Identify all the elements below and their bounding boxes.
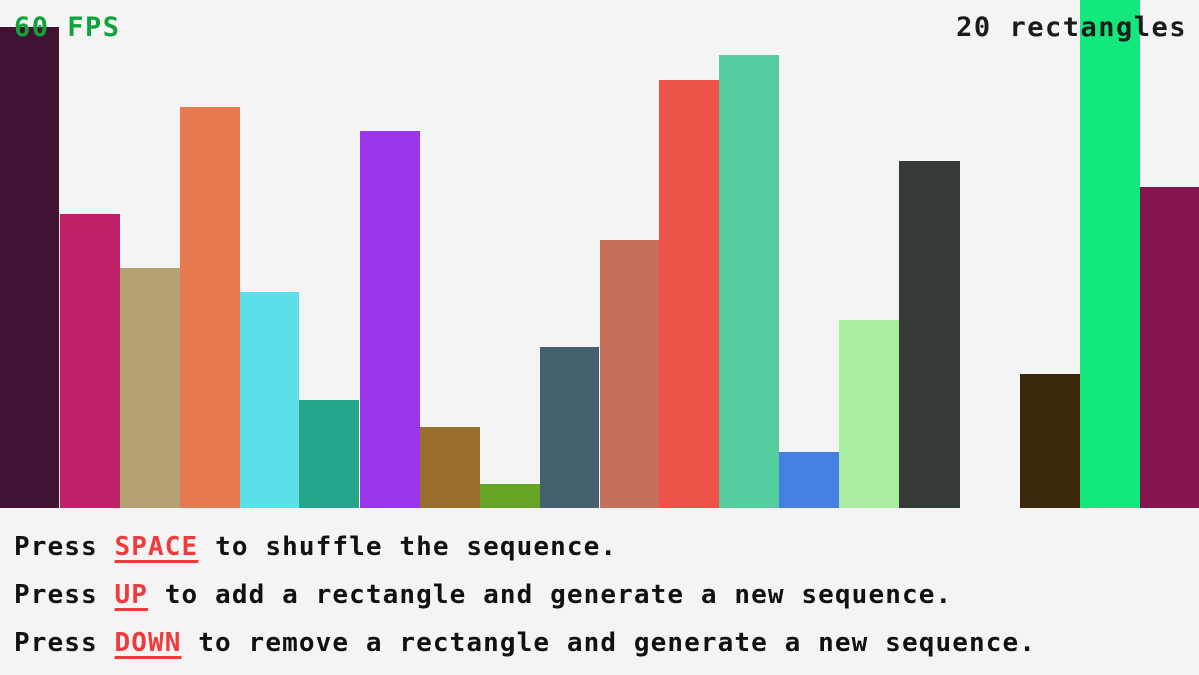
- bar-rectangle: [420, 427, 480, 508]
- instruction-line: Press SPACE to shuffle the sequence.: [14, 523, 1199, 571]
- rectangle-canvas: [0, 0, 1199, 509]
- bar-rectangle: [540, 347, 599, 508]
- bar-rectangle: [1020, 374, 1080, 508]
- instruction-suffix: to shuffle the sequence.: [198, 532, 617, 562]
- instruction-line: Press DOWN to remove a rectangle and gen…: [14, 619, 1199, 667]
- bar-rectangle: [719, 55, 779, 508]
- instruction-prefix: Press: [14, 580, 115, 610]
- bar-rectangle: [360, 131, 420, 508]
- instruction-prefix: Press: [14, 532, 115, 562]
- bar-rectangle: [1080, 0, 1140, 508]
- bar-rectangle: [600, 240, 659, 508]
- bar-rectangle: [1140, 187, 1199, 508]
- bar-rectangle: [120, 268, 180, 508]
- bar-rectangle: [899, 161, 960, 508]
- instruction-suffix: to remove a rectangle and generate a new…: [182, 628, 1036, 658]
- keyboard-key-space[interactable]: SPACE: [115, 532, 199, 562]
- bar-rectangle: [480, 484, 540, 508]
- bar-rectangle: [0, 27, 59, 508]
- bar-rectangle: [839, 320, 899, 508]
- instruction-line: Press UP to add a rectangle and generate…: [14, 571, 1199, 619]
- instruction-suffix: to add a rectangle and generate a new se…: [148, 580, 952, 610]
- app-root: 60 FPS 20 rectangles Press SPACE to shuf…: [0, 0, 1199, 675]
- keyboard-key-down[interactable]: DOWN: [115, 628, 182, 658]
- fps-counter: 60 FPS: [14, 12, 121, 43]
- bar-rectangle: [240, 292, 299, 508]
- bar-rectangle: [779, 452, 839, 508]
- instructions-panel: Press SPACE to shuffle the sequence.Pres…: [0, 509, 1199, 675]
- keyboard-key-up[interactable]: UP: [115, 580, 149, 610]
- bar-rectangle: [180, 107, 240, 508]
- instruction-prefix: Press: [14, 628, 115, 658]
- bar-rectangle: [299, 400, 359, 508]
- rectangle-count-label: 20 rectangles: [956, 12, 1187, 43]
- bar-rectangle: [659, 80, 719, 508]
- bar-rectangle: [60, 214, 120, 508]
